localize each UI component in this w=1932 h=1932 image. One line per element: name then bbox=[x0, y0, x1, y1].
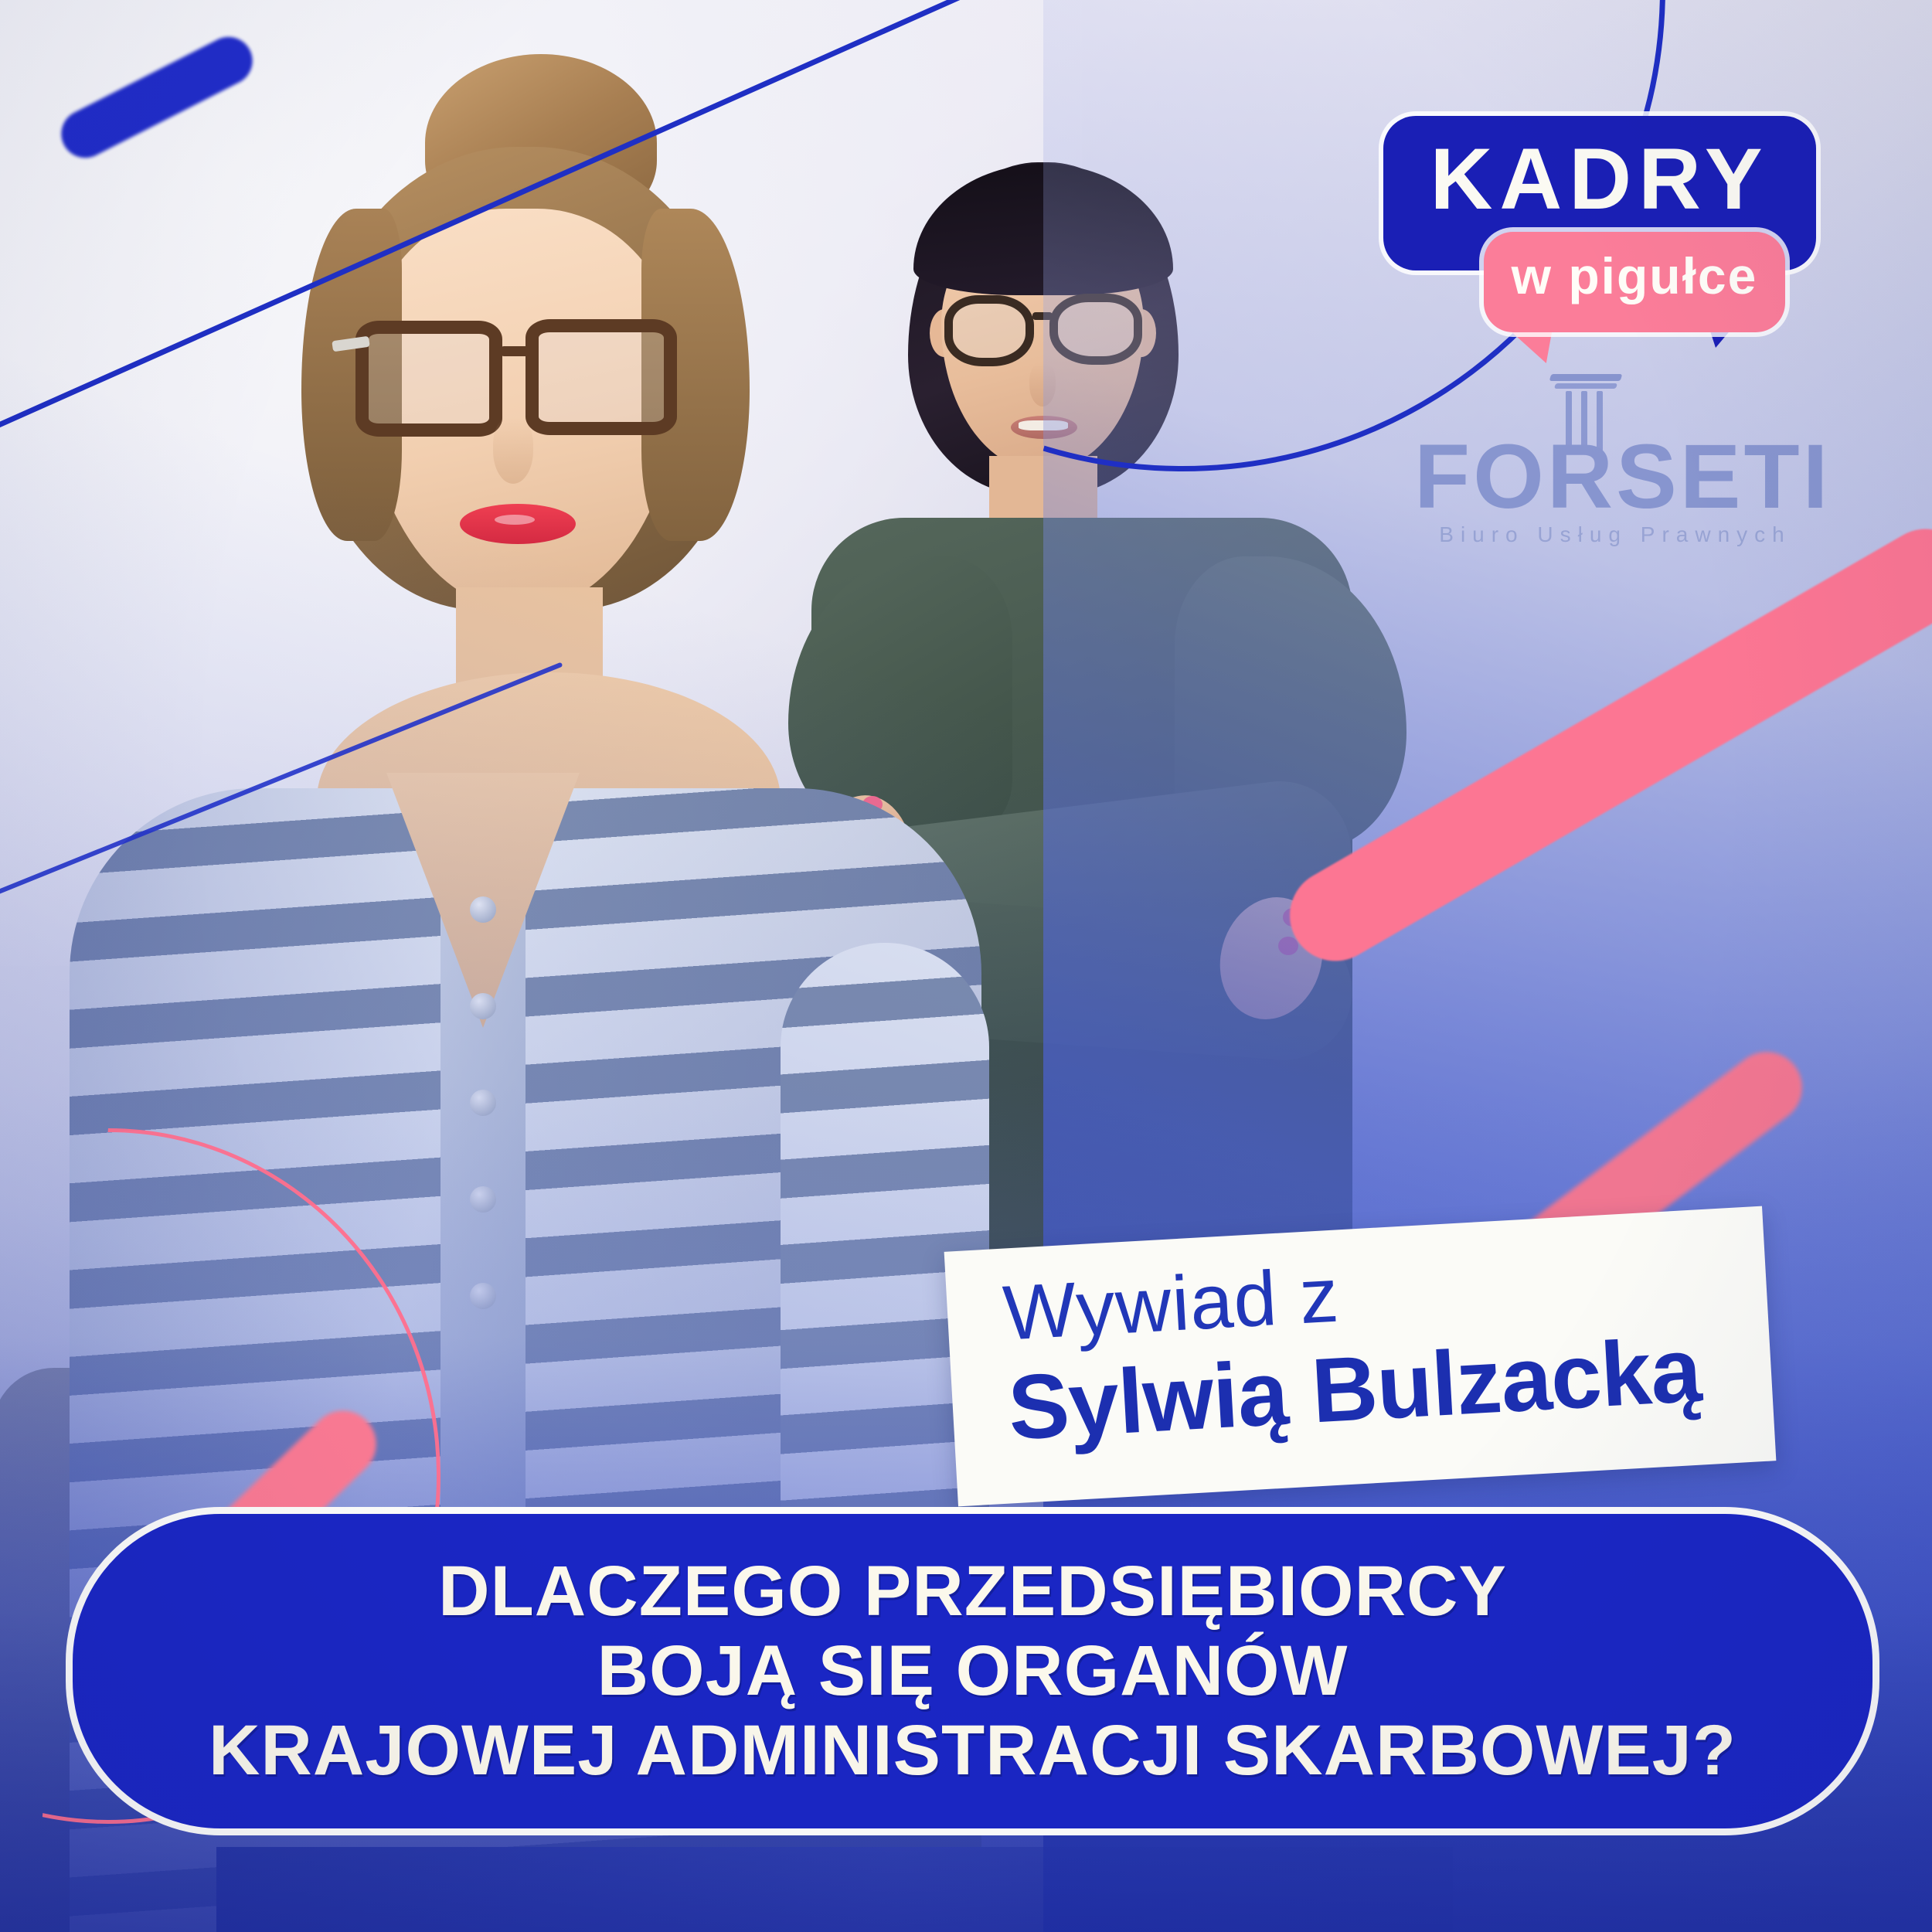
kadry-logo-subtitle: w pigułce bbox=[1484, 250, 1785, 301]
kadry-logo[interactable]: KADRY w pigułce bbox=[1383, 116, 1816, 332]
social-media-graphic: KADRY w pigułce FORSETI Biuro Usług Praw… bbox=[0, 0, 1932, 1932]
interview-card: Wywiad z Sylwią Bulzacką bbox=[944, 1206, 1777, 1507]
eyeglasses-bridge bbox=[501, 346, 530, 356]
headline-line-3: KRAJOWEJ ADMINISTRACJI SKARBOWEJ? bbox=[209, 1711, 1736, 1791]
forseti-logo[interactable]: FORSETI Biuro Usług Prawnych bbox=[1414, 371, 1816, 549]
headline-banner: DLACZEGO PRZEDSIĘBIORCY BOJĄ SIĘ ORGANÓW… bbox=[66, 1507, 1879, 1835]
headline-line-2: BOJĄ SIĘ ORGANÓW bbox=[597, 1631, 1349, 1711]
nose-shape bbox=[493, 417, 533, 484]
lip-highlight-shape bbox=[495, 515, 535, 525]
column-capital bbox=[1554, 383, 1617, 389]
eyeglasses-right-lens bbox=[526, 319, 677, 435]
button-icon bbox=[470, 896, 496, 923]
eyeglasses-left-lens bbox=[355, 321, 502, 437]
forseti-logo-tagline: Biuro Usług Prawnych bbox=[1414, 522, 1816, 547]
kadry-logo-word: KADRY bbox=[1383, 136, 1816, 223]
headline-line-1: DLACZEGO PRZEDSIĘBIORCY bbox=[438, 1552, 1507, 1631]
button-icon bbox=[470, 993, 496, 1019]
column-capital bbox=[1549, 374, 1623, 381]
interview-kicker: Wywiad z bbox=[1001, 1256, 1341, 1352]
forseti-logo-word: FORSETI bbox=[1414, 431, 1816, 522]
